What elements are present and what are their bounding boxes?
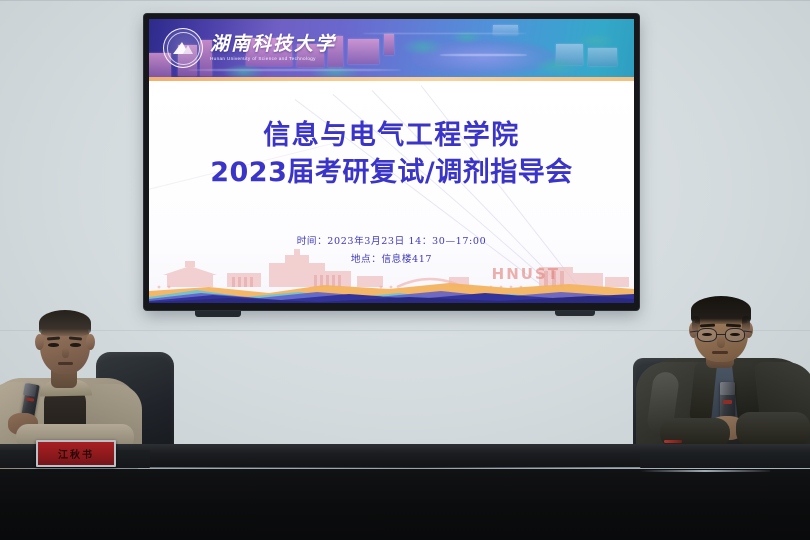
conference-room-photo: 湖南科技大学 Hunan University of Science and T… (0, 0, 810, 540)
logo-english-name: Hunan University of Science and Technolo… (210, 57, 336, 62)
hair-left (39, 310, 91, 336)
ear-left (35, 334, 44, 350)
desk-edge-highlight-2 (640, 470, 770, 472)
nose-right-person (717, 336, 725, 348)
nameplate-left: 江秋书 (36, 440, 116, 467)
microphone-head-left (23, 383, 37, 397)
forearm-right-person-r (736, 412, 810, 446)
slide-footer-skyline: HNUST (149, 247, 634, 303)
presentation-slide: 湖南科技大学 Hunan University of Science and T… (149, 19, 634, 303)
mouth-right-person (712, 351, 728, 354)
mouth-left-person (58, 362, 73, 365)
microphone-indicator-right (723, 400, 732, 404)
desk-panel-right (640, 452, 810, 468)
slide-header-banner: 湖南科技大学 Hunan University of Science and T… (149, 19, 634, 81)
slide-body: 信息与电气工程学院 2023届考研复试/调剂指导会 时间：2023年3月23日 … (149, 81, 634, 303)
pen-on-desk (664, 440, 682, 443)
nose-left-person (62, 348, 69, 358)
logo-chinese-name: 湖南科技大学 (210, 35, 336, 54)
nameplate-text: 江秋书 (58, 446, 94, 461)
ear-right (86, 334, 95, 350)
slide-title-line2: 2023届考研复试/调剂指导会 (149, 154, 634, 191)
eye-left (48, 343, 59, 347)
university-logo: 湖南科技大学 Hunan University of Science and T… (163, 28, 336, 68)
eye-right (70, 343, 81, 347)
hnust-seal-icon (163, 28, 203, 68)
slide-title-line1: 信息与电气工程学院 (149, 117, 634, 154)
desk-front-panel (0, 469, 810, 540)
slide-title: 信息与电气工程学院 2023届考研复试/调剂指导会 (149, 117, 634, 192)
microphone-head-right (720, 382, 735, 395)
wall-mounted-display: 湖南科技大学 Hunan University of Science and T… (144, 14, 639, 310)
hnust-watermark-text: HNUST (492, 265, 560, 283)
